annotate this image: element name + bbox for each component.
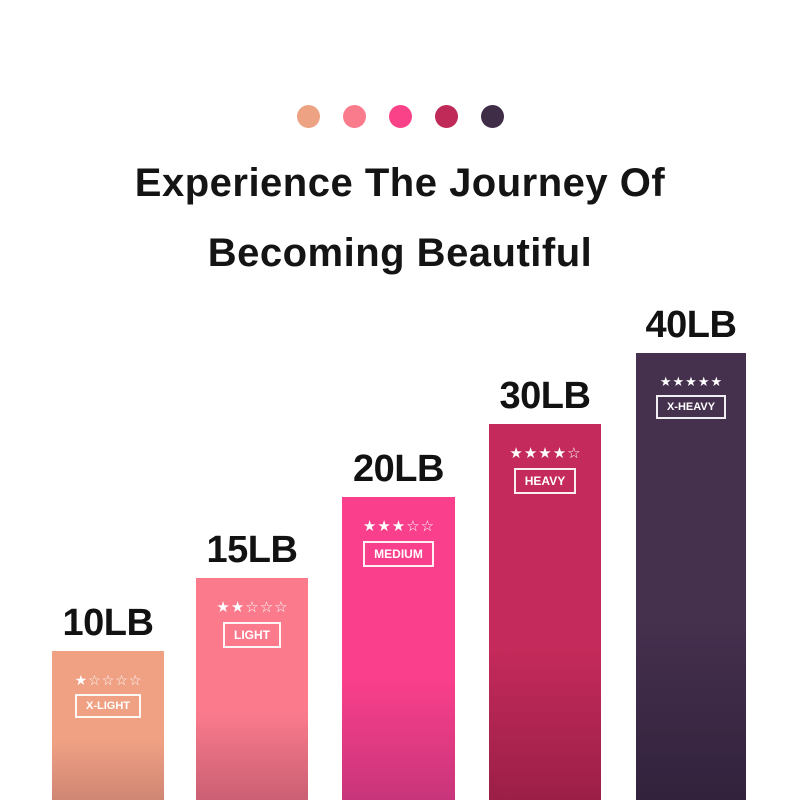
bar-content: ★★★★☆HEAVY: [489, 446, 601, 494]
bar-30lb[interactable]: ★★★★☆HEAVY: [489, 424, 601, 800]
bar-40lb[interactable]: ★★★★★X-HEAVY: [636, 353, 746, 800]
star-filled-icon: ★: [698, 375, 710, 388]
star-filled-icon: ★: [377, 519, 390, 534]
tier-badge: X-HEAVY: [656, 395, 726, 419]
star-empty-icon: ☆: [260, 600, 273, 615]
rating-stars: ★★★★★: [660, 375, 722, 388]
star-empty-icon: ☆: [421, 519, 434, 534]
star-empty-icon: ☆: [274, 600, 287, 615]
tier-badge: MEDIUM: [363, 541, 434, 567]
star-filled-icon: ★: [216, 600, 229, 615]
star-filled-icon: ★: [553, 446, 566, 461]
tier-badge: LIGHT: [223, 622, 281, 648]
star-empty-icon: ☆: [102, 673, 115, 687]
bar-group-20lb[interactable]: 20LB★★★☆☆MEDIUM: [342, 445, 455, 800]
bar-value-label: 20LB: [342, 448, 455, 491]
star-filled-icon: ★: [673, 375, 685, 388]
star-filled-icon: ★: [710, 375, 722, 388]
rating-stars: ★★★★☆: [509, 446, 580, 461]
star-filled-icon: ★: [509, 446, 522, 461]
bar-15lb[interactable]: ★★☆☆☆LIGHT: [196, 578, 308, 800]
star-empty-icon: ☆: [245, 600, 258, 615]
bar-content: ★★★☆☆MEDIUM: [342, 519, 455, 567]
rating-stars: ★★☆☆☆: [216, 600, 287, 615]
bar-20lb[interactable]: ★★★☆☆MEDIUM: [342, 497, 455, 800]
bar-value-label: 30LB: [489, 375, 601, 418]
bar-group-40lb[interactable]: 40LB★★★★★X-HEAVY: [636, 301, 746, 800]
star-empty-icon: ☆: [129, 673, 142, 687]
star-empty-icon: ☆: [567, 446, 580, 461]
star-filled-icon: ★: [660, 375, 672, 388]
tier-badge: HEAVY: [514, 468, 576, 494]
star-filled-icon: ★: [392, 519, 405, 534]
star-empty-icon: ☆: [115, 673, 128, 687]
star-empty-icon: ☆: [406, 519, 419, 534]
star-empty-icon: ☆: [88, 673, 101, 687]
star-filled-icon: ★: [363, 519, 376, 534]
bar-value-label: 10LB: [52, 602, 164, 645]
star-filled-icon: ★: [538, 446, 551, 461]
bar-group-10lb[interactable]: 10LB★☆☆☆☆X-LIGHT: [52, 599, 164, 800]
bar-content: ★☆☆☆☆X-LIGHT: [52, 673, 164, 718]
star-filled-icon: ★: [685, 375, 697, 388]
bar-value-label: 40LB: [636, 304, 746, 347]
bar-content: ★★★★★X-HEAVY: [636, 375, 746, 419]
bar-group-15lb[interactable]: 15LB★★☆☆☆LIGHT: [196, 526, 308, 800]
infographic-canvas: Experience The Journey Of Becoming Beaut…: [0, 0, 800, 800]
star-filled-icon: ★: [524, 446, 537, 461]
bar-content: ★★☆☆☆LIGHT: [196, 600, 308, 648]
star-filled-icon: ★: [75, 673, 88, 687]
tier-badge: X-LIGHT: [75, 694, 141, 718]
bar-value-label: 15LB: [196, 529, 308, 572]
rating-stars: ★☆☆☆☆: [75, 673, 142, 687]
rating-stars: ★★★☆☆: [363, 519, 434, 534]
star-filled-icon: ★: [231, 600, 244, 615]
bar-10lb[interactable]: ★☆☆☆☆X-LIGHT: [52, 651, 164, 800]
bar-group-30lb[interactable]: 30LB★★★★☆HEAVY: [489, 372, 601, 800]
resistance-band-bar-chart: 10LB★☆☆☆☆X-LIGHT15LB★★☆☆☆LIGHT20LB★★★☆☆M…: [0, 0, 800, 800]
